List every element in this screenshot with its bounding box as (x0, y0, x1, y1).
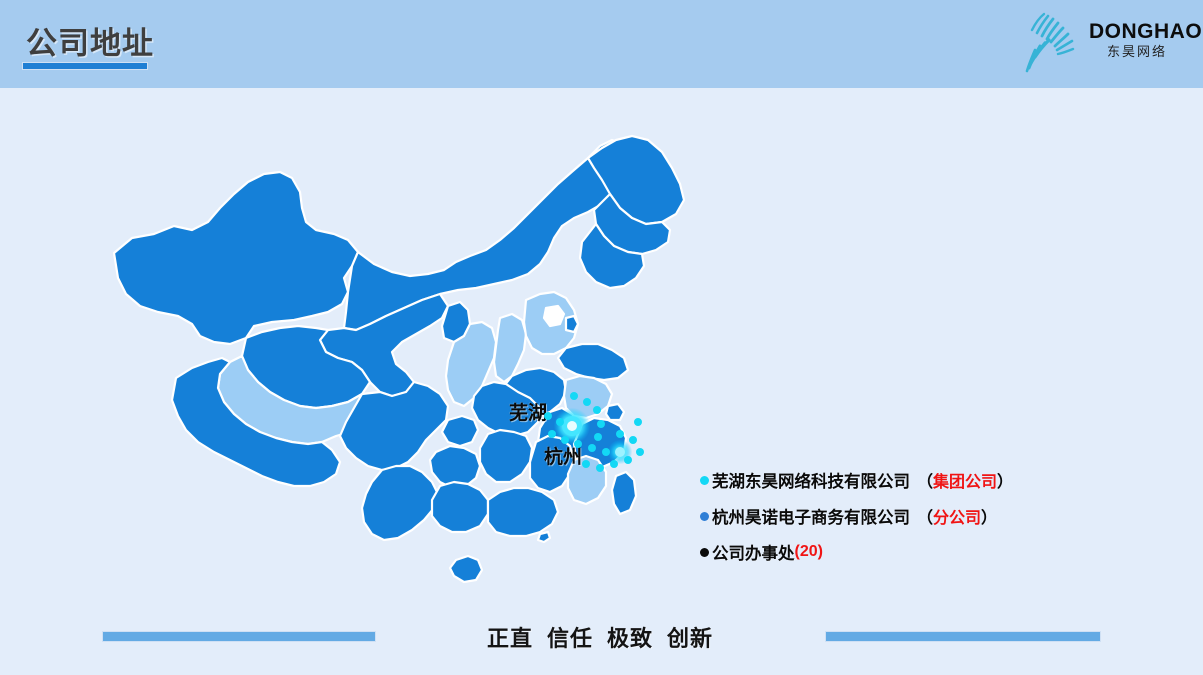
legend-accent: 分公司 (933, 504, 981, 528)
page-header: 公司地址 DON (0, 0, 1203, 88)
china-map-svg (96, 130, 716, 610)
map-office-dot[interactable] (588, 444, 596, 452)
map-office-dot[interactable] (570, 392, 578, 400)
map-office-dot[interactable] (597, 420, 605, 428)
legend-bullet-blue (700, 512, 709, 521)
map-office-dot[interactable] (593, 406, 601, 414)
province-shanghai (606, 404, 624, 420)
logo-name: DONGHAO (1089, 20, 1185, 43)
province-hainan (450, 556, 482, 582)
map-office-dot[interactable] (548, 430, 556, 438)
map-office-dot[interactable] (596, 464, 604, 472)
map-office-dot[interactable] (634, 418, 642, 426)
legend-paren-open: （ (917, 468, 933, 492)
map-office-dot[interactable] (544, 412, 552, 420)
legend-accent: (20) (795, 543, 823, 561)
province-hongkong (538, 532, 550, 542)
province-guangdong (488, 488, 558, 536)
legend-item-group-company: 芜湖东昊网络科技有限公司 （ 集团公司 ） (700, 462, 1120, 498)
slogan-word-4: 创新 (667, 626, 713, 651)
map-office-dot[interactable] (583, 398, 591, 406)
map-office-dot[interactable] (582, 460, 590, 468)
legend-item-branch-company: 杭州昊诺电子商务有限公司 （ 分公司 ） (700, 498, 1120, 534)
map-office-dot[interactable] (636, 448, 644, 456)
map-office-dot[interactable] (556, 418, 564, 426)
legend-bullet-cyan (700, 476, 709, 485)
logo-wordmark: DONGHAO 东昊网络 (1089, 20, 1185, 61)
footer-slogan: 正直信任极致创新 (440, 621, 760, 653)
province-shandong (558, 344, 628, 380)
slogan-word-1: 正直 (487, 626, 533, 651)
legend-label: 公司办事处 (712, 540, 795, 564)
china-map: 芜湖 杭州 (96, 130, 716, 610)
legend-paren-close: ） (981, 504, 997, 528)
map-office-dot[interactable] (624, 456, 632, 464)
province-yunnan (362, 466, 438, 540)
map-marker-wuhu-core (567, 421, 577, 431)
legend-label: 杭州昊诺电子商务有限公司 (712, 504, 910, 528)
footer-bar-right (825, 631, 1101, 642)
province-xinjiang (114, 172, 358, 344)
title-underline (22, 62, 148, 70)
map-office-dot[interactable] (574, 440, 582, 448)
legend: 芜湖东昊网络科技有限公司 （ 集团公司 ） 杭州昊诺电子商务有限公司 （ 分公司… (700, 462, 1120, 570)
map-office-dot[interactable] (610, 460, 618, 468)
legend-label: 芜湖东昊网络科技有限公司 (712, 468, 910, 492)
province-beijing (544, 306, 564, 326)
legend-paren-open: （ (917, 504, 933, 528)
map-office-dot[interactable] (561, 436, 569, 444)
map-city-label-wuhu: 芜湖 (509, 398, 547, 425)
logo-subtitle: 东昊网络 (1089, 43, 1185, 61)
map-marker-hangzhou-core[interactable] (615, 447, 625, 457)
map-office-dot[interactable] (594, 433, 602, 441)
legend-item-offices: 公司办事处 (20) (700, 534, 1120, 570)
brand-logo: DONGHAO 东昊网络 (1015, 6, 1185, 78)
map-office-dot[interactable] (616, 430, 624, 438)
province-hunan (480, 430, 532, 482)
province-guangxi (432, 482, 488, 532)
province-taiwan (612, 472, 636, 514)
legend-paren-close: ） (997, 468, 1013, 492)
province-chongqing (442, 416, 478, 446)
map-office-dot[interactable] (602, 448, 610, 456)
legend-accent: 集团公司 (933, 468, 997, 492)
slogan-word-2: 信任 (547, 626, 593, 651)
legend-bullet-black (700, 548, 709, 557)
donghao-wing-logo-icon (1015, 8, 1087, 76)
footer-bar-left (102, 631, 376, 642)
page-title: 公司地址 (26, 18, 154, 63)
slogan-word-3: 极致 (607, 626, 653, 651)
map-office-dot[interactable] (629, 436, 637, 444)
province-tianjin (566, 316, 578, 332)
